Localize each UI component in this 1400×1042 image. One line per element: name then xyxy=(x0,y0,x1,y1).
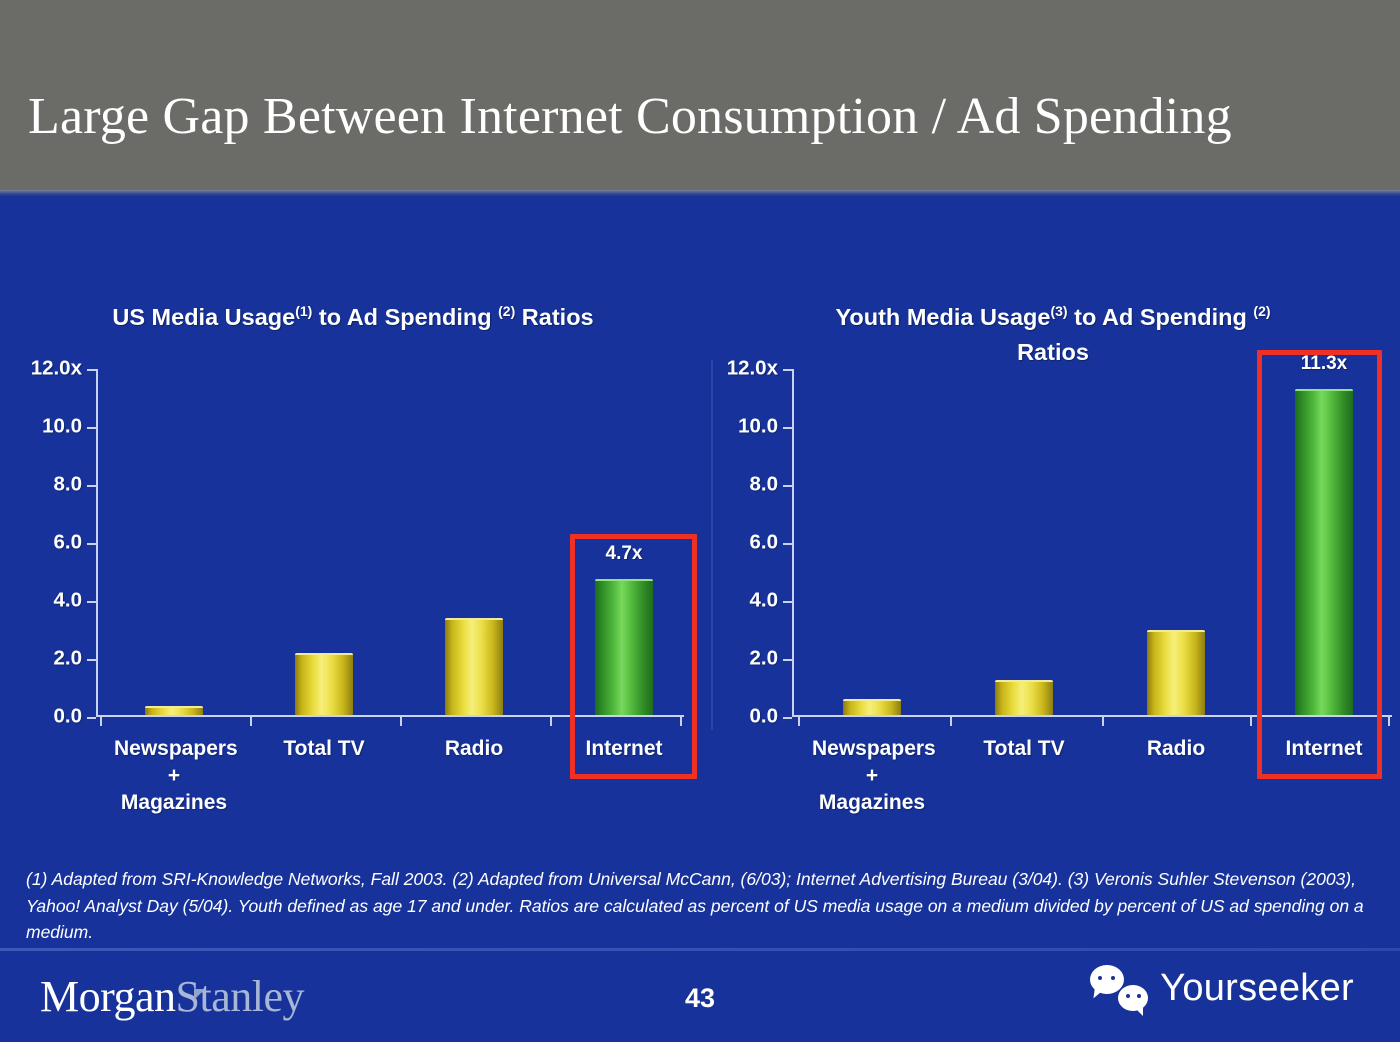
chart-panel-left: US Media Usage(1) to Ad Spending (2) Rat… xyxy=(0,214,706,814)
slide-footer: MorganStanley 43 Yourseeker xyxy=(0,951,1400,1042)
x-tick-mark xyxy=(950,717,952,726)
x-tick-mark xyxy=(100,717,102,726)
y-tick-label: 0.0 xyxy=(750,705,779,729)
chart-title-right-footnote-2: (2) xyxy=(1253,303,1270,319)
chart-title-left-footnote-1: (1) xyxy=(295,303,312,319)
bar-media xyxy=(995,680,1053,715)
slide: Large Gap Between Internet Consumption /… xyxy=(0,0,1400,1042)
x-tick-mark xyxy=(1388,717,1390,726)
x-tick-mark xyxy=(550,717,552,726)
bar-group: Newspapers+ Magazines xyxy=(114,369,234,715)
y-tick-mark xyxy=(87,601,96,603)
y-tick-mark xyxy=(783,369,792,371)
y-tick-label: 4.0 xyxy=(750,589,779,613)
y-tick-label: 2.0 xyxy=(54,647,83,671)
brand-watermark: Yourseeker xyxy=(1090,965,1354,1011)
y-tick-label: 0.0 xyxy=(54,705,83,729)
x-axis-category-label: Total TV xyxy=(964,735,1084,762)
y-tick-mark xyxy=(87,543,96,545)
x-tick-mark xyxy=(798,717,800,726)
x-axis-category-label: Total TV xyxy=(264,735,384,762)
bar-group: Total TV xyxy=(964,369,1084,715)
x-axis-category-label: Radio xyxy=(414,735,534,762)
y-tick-mark xyxy=(87,427,96,429)
y-tick-label: 6.0 xyxy=(750,531,779,555)
chart-title-left-main: US Media Usage xyxy=(112,304,295,330)
chart-title-left-mid: to Ad Spending xyxy=(312,304,498,330)
y-tick-label: 8.0 xyxy=(54,473,83,497)
highlight-box-left xyxy=(570,534,697,779)
y-tick-mark xyxy=(783,485,792,487)
y-tick-mark xyxy=(783,717,792,719)
y-tick-label: 2.0 xyxy=(750,647,779,671)
y-tick-mark xyxy=(87,369,96,371)
chart-title-right-mid: to Ad Spending xyxy=(1068,304,1254,330)
wechat-icon xyxy=(1090,965,1148,1011)
bar-group: Total TV xyxy=(264,369,384,715)
y-tick-mark xyxy=(87,485,96,487)
x-tick-mark xyxy=(400,717,402,726)
footnotes: (1) Adapted from SRI-Knowledge Networks,… xyxy=(26,866,1376,946)
slide-header: Large Gap Between Internet Consumption /… xyxy=(0,0,1400,196)
bar-media xyxy=(1147,630,1205,715)
page-title: Large Gap Between Internet Consumption /… xyxy=(28,88,1232,146)
y-tick-mark xyxy=(783,601,792,603)
x-axis-category-label: Newspapers+ Magazines xyxy=(812,735,932,816)
chart-panel-right: Youth Media Usage(3) to Ad Spending (2)R… xyxy=(706,214,1400,814)
y-tick-label: 6.0 xyxy=(54,531,83,555)
y-tick-label: 10.0 xyxy=(42,415,82,439)
chart-title-right-footnote-3: (3) xyxy=(1050,303,1067,319)
highlight-box-right xyxy=(1257,350,1382,779)
y-tick-label: 10.0 xyxy=(738,415,778,439)
x-tick-mark xyxy=(250,717,252,726)
y-tick-mark xyxy=(87,717,96,719)
bar-media xyxy=(843,699,901,715)
bar-group: Radio xyxy=(414,369,534,715)
chart-title-left-end: Ratios xyxy=(515,304,593,330)
y-tick-label: 4.0 xyxy=(54,589,83,613)
y-tick-mark xyxy=(783,659,792,661)
x-tick-mark xyxy=(1102,717,1104,726)
chart-title-right-main: Youth Media Usage xyxy=(835,304,1050,330)
chart-title-left-footnote-2: (2) xyxy=(498,303,515,319)
y-tick-label: 12.0x xyxy=(727,357,778,381)
x-axis-category-label: Newspapers+ Magazines xyxy=(114,735,234,816)
x-axis-category-label: Radio xyxy=(1116,735,1236,762)
chart-title-left: US Media Usage(1) to Ad Spending (2) Rat… xyxy=(0,294,706,335)
bar-media xyxy=(145,706,203,715)
bar-group: Radio xyxy=(1116,369,1236,715)
bar-media xyxy=(295,653,353,715)
brand-name: Yourseeker xyxy=(1160,967,1354,1010)
header-divider xyxy=(0,190,1400,196)
y-tick-mark xyxy=(783,427,792,429)
y-tick-mark xyxy=(783,543,792,545)
bar-media xyxy=(445,618,503,715)
y-tick-label: 12.0x xyxy=(31,357,82,381)
x-tick-mark xyxy=(1250,717,1252,726)
y-tick-label: 8.0 xyxy=(750,473,779,497)
y-tick-mark xyxy=(87,659,96,661)
bar-group: Newspapers+ Magazines xyxy=(812,369,932,715)
chart-title-right-line2: Ratios xyxy=(1017,339,1089,365)
